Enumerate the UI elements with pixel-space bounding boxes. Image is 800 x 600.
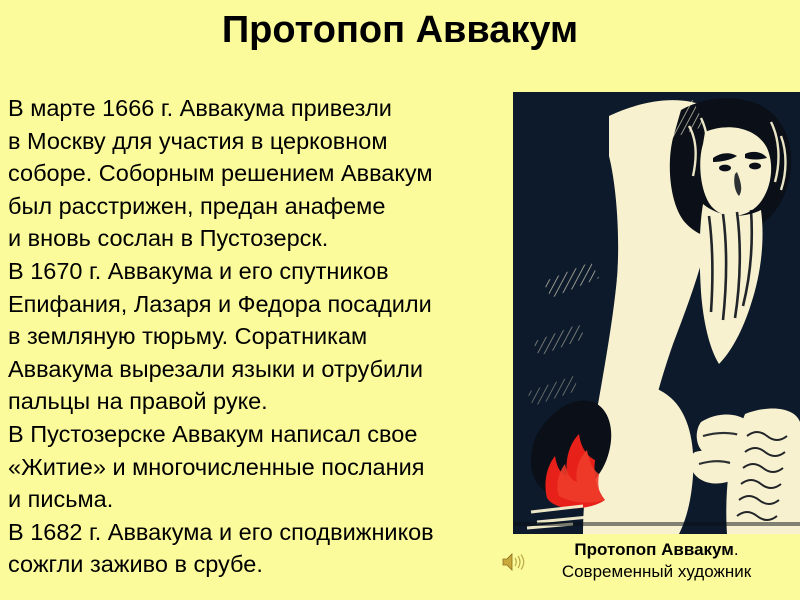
paragraph-1: В марте 1666 г. Аввакума привезли в Моск… <box>8 92 500 255</box>
page-title: Протопоп Аввакум <box>0 8 800 52</box>
body-text-column: В марте 1666 г. Аввакума привезли в Моск… <box>8 92 500 581</box>
paragraph-3: В Пустозерске Аввакум написал свое «Жити… <box>8 418 500 516</box>
image-caption: Протопоп Аввакум. Современный художник <box>513 539 800 583</box>
paragraph-4: В 1682 г. Аввакума и его сподвижников со… <box>8 516 500 581</box>
slide-root: Протопоп Аввакум В марте 1666 г. Аввакум… <box>0 0 800 600</box>
caption-punctuation: . <box>734 540 739 559</box>
illustration-image <box>513 92 800 534</box>
caption-title-line: Протопоп Аввакум. <box>513 539 800 561</box>
caption-subtitle: Современный художник <box>513 561 800 583</box>
caption-name: Протопоп Аввакум <box>574 540 733 559</box>
paragraph-2: В 1670 г. Аввакума и его спутников Епифа… <box>8 255 500 418</box>
